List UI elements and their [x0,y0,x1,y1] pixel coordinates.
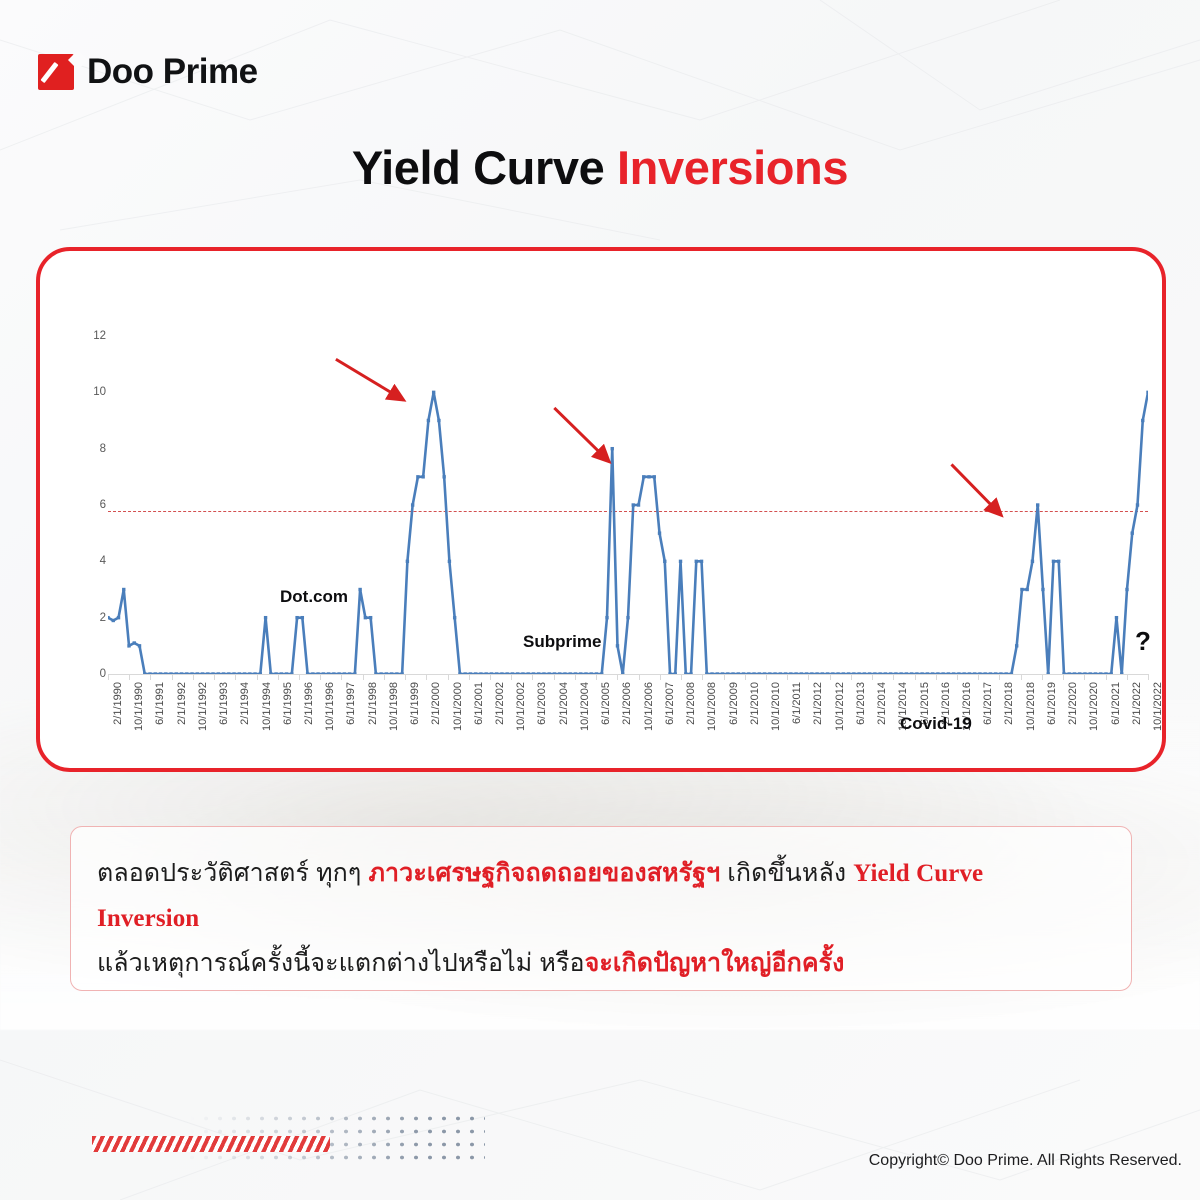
plot-canvas [108,336,1148,674]
y-axis-tick-label: 0 [72,668,106,680]
series-point [427,419,430,422]
message-line-3: แล้วเหตุการณ์ครั้งนี้จะแตกต่างไปหรือไม่ … [97,941,1105,985]
series-point [432,391,435,394]
series-point [1057,560,1060,563]
y-axis-tick-label: 4 [72,555,106,567]
series-point [122,588,125,591]
x-axis-tick [193,674,194,680]
message-line-1: ตลอดประวัติศาสตร์ ทุกๆ ภาวะเศรษฐกิจถดถอย… [97,851,1105,896]
x-axis-tick-label: 10/1/2018 [1025,682,1037,731]
series-point [133,641,136,644]
x-axis-tick [1084,674,1085,680]
x-axis-tick-label: 6/1/2005 [600,682,612,725]
chart: 0246810122/1/199010/1/19906/1/19912/1/19… [40,251,1162,768]
page-title-part1: Yield Curve [352,141,617,194]
series-point [642,475,645,478]
series-point [138,644,141,647]
y-axis-tick-label: 2 [72,612,106,624]
page-title-accent: Inversions [617,141,848,194]
series-point [369,616,372,619]
x-axis-line [108,674,1148,675]
series-point [127,644,130,647]
x-axis-tick-label: 2/1/2006 [621,682,633,725]
series-point [605,616,608,619]
series-point [1131,531,1134,534]
series-point [626,616,629,619]
series-point [108,616,110,619]
series-point [453,616,456,619]
y-axis-tick-label: 6 [72,499,106,511]
series-point [117,616,120,619]
x-axis-tick [1148,674,1149,680]
y-axis-tick-label: 12 [72,330,106,342]
series-point [416,475,419,478]
x-axis-tick-label: 6/1/2001 [473,682,485,725]
x-axis-tick [320,674,321,680]
x-axis-tick-label: 2/1/1998 [367,682,379,725]
x-axis-tick [851,674,852,680]
message-line-1-c: เกิดขึ้นหลัง [720,859,853,887]
x-axis-tick-label: 10/1/2002 [515,682,527,731]
x-axis-tick [724,674,725,680]
series-point [301,616,304,619]
x-axis-tick-label: 10/1/2004 [579,682,591,731]
x-axis-tick-label: 10/1/2012 [834,682,846,731]
x-axis-tick [490,674,491,680]
x-axis-tick-label: 6/1/2013 [855,682,867,725]
x-axis-tick [172,674,173,680]
series-point [358,588,361,591]
x-axis-tick-label: 10/1/1992 [197,682,209,731]
series-point [1052,560,1055,563]
x-axis-tick [999,674,1000,680]
x-axis-tick [511,674,512,680]
x-axis-tick-label: 2/1/2010 [749,682,761,725]
x-axis-tick [702,674,703,680]
x-axis-tick [978,674,979,680]
series-point [679,560,682,563]
series-point [1015,644,1018,647]
x-axis-tick-label: 6/1/2019 [1046,682,1058,725]
x-axis-tick [129,674,130,680]
x-axis-tick [214,674,215,680]
x-axis-tick [617,674,618,680]
x-axis-tick-label: 2/1/1990 [112,682,124,725]
x-axis-tick [808,674,809,680]
brand-name: Doo Prime [87,52,258,92]
stripe-decoration [92,1136,330,1152]
x-axis-tick-label: 6/1/2017 [982,682,994,725]
x-axis-tick [1042,674,1043,680]
x-axis-tick-label: 2/1/2014 [876,682,888,725]
series-point [653,475,656,478]
series-point [264,616,267,619]
page-title: Yield Curve Inversions [0,140,1200,195]
series-point [421,475,424,478]
x-axis-tick-label: 2/1/1996 [303,682,315,725]
message-line-1-b: ภาวะเศรษฐกิจถดถอยของสหรัฐฯ [368,859,720,887]
message-line-1-d: Yield Curve [853,860,983,887]
x-axis-tick [766,674,767,680]
x-axis-tick-label: 6/1/1997 [345,682,357,725]
series-point [1036,503,1039,506]
y-axis-tick-label: 8 [72,443,106,455]
brand-logo: Doo Prime [38,52,258,92]
x-axis-tick [957,674,958,680]
x-axis-tick [1021,674,1022,680]
copyright-text: Copyright© Doo Prime. All Rights Reserve… [869,1152,1182,1170]
series-point [112,619,115,622]
x-axis-tick [363,674,364,680]
series-point [411,503,414,506]
series-point [616,644,619,647]
series-point [663,560,666,563]
series-point [1020,588,1023,591]
series-point [695,560,698,563]
x-axis-tick-label: 6/1/2009 [728,682,740,725]
series-line [108,392,1148,674]
y-axis-tick-label: 10 [72,386,106,398]
x-axis-tick-label: 6/1/2021 [1110,682,1122,725]
x-axis-tick-label: 10/1/2020 [1088,682,1100,731]
x-axis-tick [448,674,449,680]
series-point [295,616,298,619]
series-point [632,503,635,506]
x-axis-tick [575,674,576,680]
x-axis-tick [469,674,470,680]
x-axis-tick-label: 6/1/1999 [409,682,421,725]
x-axis-tick [1127,674,1128,680]
x-axis-tick-label: 6/1/1991 [154,682,166,725]
x-axis-tick-label: 10/1/2008 [706,682,718,731]
annotation-subprime: Subprime [523,632,601,652]
series-point [658,531,661,534]
x-axis-tick-label: 2/1/2002 [494,682,506,725]
series-point [647,475,650,478]
x-axis-tick [532,674,533,680]
x-axis-tick-label: 10/1/1996 [324,682,336,731]
x-axis-tick-label: 2/1/1994 [239,682,251,725]
annotation-question: ? [1135,626,1151,657]
x-axis-tick [830,674,831,680]
x-axis-tick-label: 2/1/2018 [1003,682,1015,725]
x-axis-tick-label: 10/1/1998 [388,682,400,731]
series-point [1025,588,1028,591]
x-axis-tick [787,674,788,680]
series-point [406,560,409,563]
x-axis-tick [872,674,873,680]
x-axis-tick-label: 6/1/2011 [791,682,803,724]
x-axis-tick-label: 10/1/2000 [452,682,464,731]
chart-card: 0246810122/1/199010/1/19906/1/19912/1/19… [36,247,1166,772]
annotation-dotcom: Dot.com [280,587,348,607]
x-axis-tick [1106,674,1107,680]
yield-curve-series [108,336,1148,674]
x-axis-tick [299,674,300,680]
x-axis-tick-label: 10/1/2006 [643,682,655,731]
series-point [1031,560,1034,563]
x-axis-tick [426,674,427,680]
series-point [700,560,703,563]
series-point [364,616,367,619]
x-axis-tick [893,674,894,680]
x-axis-tick-label: 6/1/2007 [664,682,676,725]
x-axis-tick [384,674,385,680]
series-point [1136,503,1139,506]
x-axis-tick [745,674,746,680]
x-axis-tick-label: 2/1/2012 [812,682,824,725]
x-axis-tick [915,674,916,680]
x-axis-tick-label: 2/1/2008 [685,682,697,725]
x-axis-tick-label: 2/1/2004 [558,682,570,725]
x-axis-tick [596,674,597,680]
x-axis-tick-label: 6/1/1995 [282,682,294,725]
poster-page: Doo Prime Yield Curve Inversions 0246810… [0,0,1200,1200]
x-axis-tick-label: 10/1/1994 [261,682,273,731]
message-line-1-a: ตลอดประวัติศาสตร์ ทุกๆ [97,859,368,887]
x-axis-tick-label: 10/1/2022 [1152,682,1164,731]
x-axis-tick-label: 10/1/1990 [133,682,145,731]
series-point [1115,616,1118,619]
x-axis-tick [278,674,279,680]
series-point [1125,588,1128,591]
message-line-2: Inversion [97,896,1105,941]
x-axis-tick [235,674,236,680]
series-point [1041,588,1044,591]
x-axis-tick-label: 2/1/2020 [1067,682,1079,725]
x-axis-tick [639,674,640,680]
annotation-covid19: Covid-19 [900,714,972,734]
series-point [442,475,445,478]
x-axis-tick [341,674,342,680]
x-axis-tick-label: 6/1/2003 [536,682,548,725]
x-axis-tick-label: 6/1/1993 [218,682,230,725]
x-axis-tick [681,674,682,680]
series-point [1141,419,1144,422]
message-line-2-a: Inversion [97,905,199,932]
x-axis-tick [1063,674,1064,680]
series-point [448,560,451,563]
series-point [437,419,440,422]
series-point [637,503,640,506]
series-point [1146,391,1148,394]
message-box: ตลอดประวัติศาสตร์ ทุกๆ ภาวะเศรษฐกิจถดถอย… [70,826,1132,991]
x-axis-tick-label: 2/1/1992 [176,682,188,725]
x-axis-tick [150,674,151,680]
x-axis-tick [257,674,258,680]
doo-prime-logo-icon [38,54,74,90]
message-line-3-a: แล้วเหตุการณ์ครั้งนี้จะแตกต่างไปหรือไม่ … [97,949,585,977]
x-axis-tick [554,674,555,680]
series-point [611,447,614,450]
message-line-3-b: จะเกิดปัญหาใหญ่อีกครั้ง [585,949,845,977]
x-axis-tick-label: 10/1/2010 [770,682,782,731]
x-axis-tick-label: 2/1/2022 [1131,682,1143,725]
x-axis-tick [936,674,937,680]
x-axis-tick [660,674,661,680]
x-axis-tick-label: 2/1/2000 [430,682,442,725]
x-axis-tick [405,674,406,680]
plot-area: 0246810122/1/199010/1/19906/1/19912/1/19… [108,336,1148,772]
x-axis-tick [108,674,109,680]
